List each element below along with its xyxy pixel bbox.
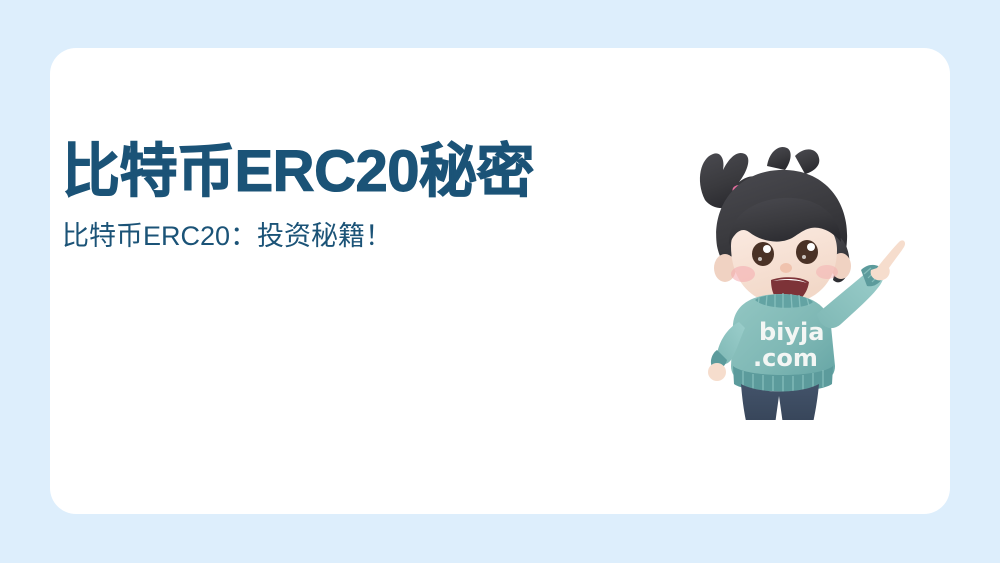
nose: [780, 263, 792, 273]
blush-right: [816, 265, 838, 279]
text-block: 比特币ERC20秘密 比特币ERC20：投资秘籍！: [62, 142, 562, 252]
eye-right: [796, 240, 818, 264]
page-title: 比特币ERC20秘密: [62, 142, 540, 202]
blush-left: [731, 266, 755, 282]
sweater-brand-line1: biyja: [759, 318, 824, 346]
mascot-illustration: biyja .com: [655, 128, 905, 420]
eye-left: [752, 242, 774, 266]
slide-canvas: 比特币ERC20秘密 比特币ERC20：投资秘籍！: [0, 0, 1000, 563]
pointing-hand-icon: [871, 240, 905, 280]
left-hand: [708, 363, 726, 381]
page-subtitle: 比特币ERC20：投资秘籍！: [62, 220, 562, 252]
sweater-brand-line2: .com: [753, 344, 818, 372]
